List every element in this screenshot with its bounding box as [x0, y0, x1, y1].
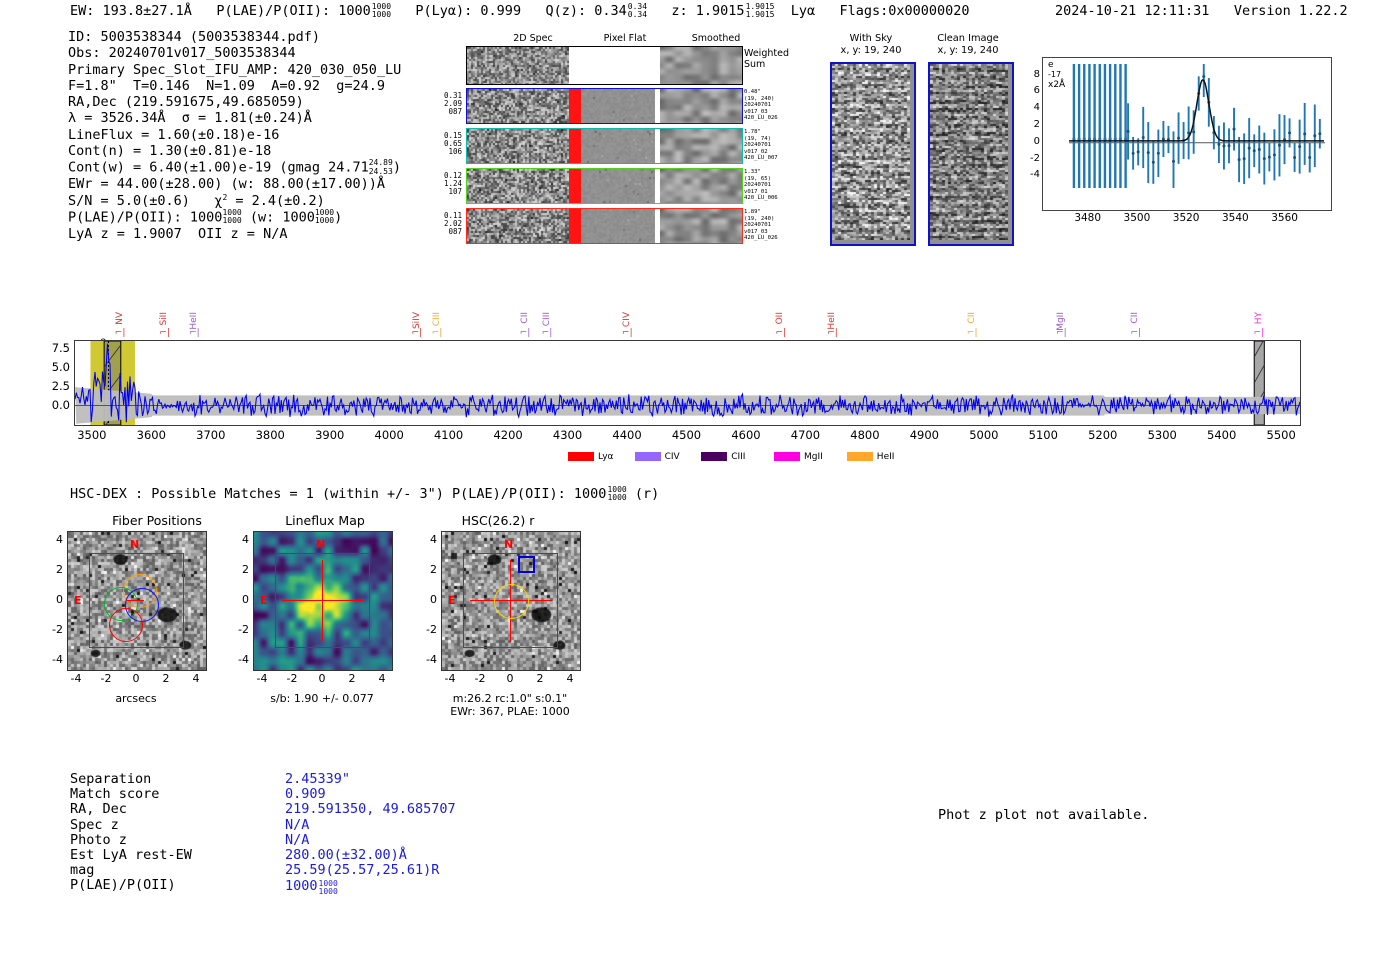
fiber-pixel-flat — [581, 209, 655, 243]
emission-line-label: HY — [1254, 312, 1264, 324]
fiber-smoothed — [660, 209, 743, 243]
emission-line-marker: ⌐| — [520, 328, 531, 338]
spectrum-svg — [75, 341, 1300, 425]
info-primary-spec: Primary Spec_Slot_IFU_AMP: 420_030_050_L… — [68, 62, 401, 78]
hsc-xtick: -2 — [94, 672, 118, 685]
fiber-strip-row — [466, 88, 743, 124]
header-line-name: Lyα — [791, 3, 815, 19]
hsc-ytick: 4 — [233, 533, 249, 546]
spectrum-xtick: 4400 — [602, 428, 652, 442]
fiber-meta-labels: 1.78"(19, 74)20240701v017_02420_LU_007 — [744, 129, 804, 162]
spectrum-xtick: 4100 — [424, 428, 474, 442]
emission-line-marker: ⌐| — [1130, 328, 1141, 338]
fiber-2dspec — [467, 129, 569, 163]
fiber-strip-rows: 0.312.090870.48"(19, 240)20240701v017_03… — [428, 88, 828, 248]
hsc-xtick: -4 — [64, 672, 88, 685]
info-cont-w: Cont(w) = 6.40(±1.00)e-19 (gmag 24.7124.… — [68, 159, 401, 176]
table-row-key: Est LyA rest-EW — [70, 848, 192, 863]
table-row-value: 25.59(25.57,25.61)R — [285, 863, 439, 878]
fiber-aperture-circle — [109, 608, 143, 642]
fiber-left-stats: 0.150.65106 — [428, 132, 462, 157]
header-z-range: 1.90151.9015 — [746, 3, 775, 19]
hsc-caption-line2: EWr: 367, PLAE: 1000 — [430, 705, 590, 718]
fiber-smoothed — [660, 89, 743, 123]
linefit-xtick: 3560 — [1261, 212, 1309, 224]
compass-north: N — [316, 538, 325, 551]
info-cont-n: Cont(n) = 1.30(±0.81)e-18 — [68, 143, 401, 159]
fiber-smoothed — [660, 129, 743, 163]
catalog-match-box — [518, 556, 535, 573]
emission-line-marker: ⌐| — [432, 328, 443, 338]
hsc-xtick: 4 — [184, 672, 208, 685]
emission-line-marker: ⌐| — [1254, 328, 1265, 338]
info-snr-chi2: S/N = 5.0(±0.6) χ2 = 2.4(±0.2) — [68, 193, 401, 209]
hsc-xtick: 4 — [558, 672, 582, 685]
hsc-ytick: 2 — [47, 563, 63, 576]
spectrum-xtick: 4500 — [662, 428, 712, 442]
hsc-xtick: -4 — [438, 672, 462, 685]
spectrum-ytick: 7.5 — [38, 341, 70, 355]
header-plya: P(Lyα): 0.999 — [415, 3, 521, 19]
table-row-value: 100010001000 — [285, 878, 338, 894]
table-row-key: Photo z — [70, 833, 127, 848]
info-radec: RA,Dec (219.591675,49.685059) — [68, 94, 401, 110]
header-plae-range: 10001000 — [372, 3, 391, 19]
spectrum-xtick: 5000 — [959, 428, 1009, 442]
legend-swatch — [568, 452, 594, 461]
table-row-key: P(LAE)/P(OII) — [70, 878, 176, 893]
lineflux-map-title: Lineflux Map — [225, 513, 425, 528]
pixel-flat-red-marker — [569, 129, 581, 163]
hsc-xtick: 4 — [370, 672, 394, 685]
spectrum-xtick: 4800 — [840, 428, 890, 442]
gmag-range: 24.8924.53 — [369, 159, 393, 176]
hsc-ytick: 0 — [233, 593, 249, 606]
header-flags: Flags:0x00000020 — [840, 3, 970, 19]
hsc-ytick: 2 — [421, 563, 437, 576]
hscdex-plae-range: 10001000 — [607, 486, 626, 502]
legend-swatch — [847, 452, 873, 461]
fiber-strip-row — [466, 128, 743, 164]
hsc-ytick: -4 — [47, 653, 63, 666]
plae-w-range: 10001000 — [315, 209, 334, 226]
compass-east: E — [260, 594, 268, 607]
spectrum-xtick: 3500 — [67, 428, 117, 442]
compass-east: E — [74, 594, 82, 607]
header-qz-label: Q(z): 0.34 — [545, 3, 626, 19]
legend-label: HeII — [877, 452, 895, 462]
compass-north: N — [504, 538, 513, 551]
linefit-ytick: -2 — [1018, 153, 1040, 164]
hsc-ytick: 4 — [421, 533, 437, 546]
spectrum-xtick: 4900 — [899, 428, 949, 442]
panel-title-2dspec: 2D Spec — [488, 33, 578, 44]
fiber-pixel-flat — [581, 89, 655, 123]
linefit-ytick: 4 — [1018, 102, 1040, 113]
linefit-ytick: 2 — [1018, 119, 1040, 130]
fiber-meta-labels: 1.89"(19, 240)20240701v017_03420_LU_026 — [744, 209, 804, 242]
linefit-xtick: 3540 — [1211, 212, 1259, 224]
spectrum-xtick: 4000 — [364, 428, 414, 442]
lineflux-map-caption: s/b: 1.90 +/- 0.077 — [242, 692, 402, 705]
plae-range: 10001000 — [222, 209, 241, 226]
hsc-ytick: -4 — [233, 653, 249, 666]
emission-line-label: SiIV — [412, 312, 422, 329]
fiber-positions-caption: arcsecs — [56, 692, 216, 705]
hsc-r-band-image: NE — [441, 531, 581, 671]
fiber-left-stats: 0.112.02087 — [428, 212, 462, 237]
table-row-value: 2.45339" — [285, 772, 350, 787]
spectrum-xtick: 3700 — [186, 428, 236, 442]
legend-label: MgII — [804, 452, 823, 462]
table-row-key: Separation — [70, 772, 151, 787]
hsc-ytick: -2 — [47, 623, 63, 636]
table-row-value: N/A — [285, 818, 309, 833]
hsc-xtick: 0 — [498, 672, 522, 685]
hsc-xtick: 2 — [340, 672, 364, 685]
hsc-ytick: 0 — [47, 593, 63, 606]
table-row-value: N/A — [285, 833, 309, 848]
lineflux-map-image: NE — [253, 531, 393, 671]
hsc-ytick: 0 — [421, 593, 437, 606]
emission-line-marker: ⌐| — [189, 328, 200, 338]
fiber-2dspec — [467, 209, 569, 243]
fiber-meta-labels: 1.33"(19, 65)20240701v017_01420_LU_006 — [744, 169, 804, 202]
emission-line-label: CIII — [542, 312, 552, 326]
fiber-2dspec — [467, 169, 569, 203]
emission-line-marker: ⌐| — [1056, 328, 1067, 338]
hsc-xtick: 2 — [154, 672, 178, 685]
clean-image-title: Clean Image x, y: 19, 240 — [908, 33, 1028, 56]
chi2-exponent: 2 — [222, 194, 227, 202]
spectrum-xtick: 5100 — [1018, 428, 1068, 442]
weighted-sum-strip — [466, 46, 743, 85]
emission-line-label: OII — [775, 312, 785, 324]
fiber-strip-row — [466, 168, 743, 204]
crosshair-vertical — [322, 560, 323, 642]
target-crosshair — [126, 600, 144, 601]
compass-north: N — [130, 538, 139, 551]
hsc-xtick: 0 — [124, 672, 148, 685]
linefit-axes — [1042, 57, 1332, 211]
pixel-flat-red-marker — [569, 209, 581, 243]
emission-line-label: CIV — [622, 312, 632, 327]
info-redshifts: LyA z = 1.9007 OII z = N/A — [68, 226, 401, 242]
fiber-left-stats: 0.121.24107 — [428, 172, 462, 197]
with-sky-image — [830, 62, 916, 246]
fiber-smoothed — [660, 169, 743, 203]
header-ew: EW: 193.8±27.1Å — [70, 3, 192, 19]
emission-line-marker: ⌐| — [159, 328, 170, 338]
emission-line-label: CII — [1130, 312, 1140, 324]
spectrum-xtick: 4200 — [483, 428, 533, 442]
hscdex-header: HSC-DEX : Possible Matches = 1 (within +… — [70, 486, 659, 502]
linefit-xtick: 3500 — [1113, 212, 1161, 224]
emission-line-label: CII — [967, 312, 977, 324]
linefit-ytick: -4 — [1018, 169, 1040, 180]
legend-swatch — [635, 452, 661, 461]
fiber-pixel-flat — [581, 169, 655, 203]
info-ewr: EWr = 44.00(±28.00) (w: 88.00(±17.00))Å — [68, 176, 401, 192]
legend-label: CIII — [731, 452, 745, 462]
emission-line-marker: ⌐| — [412, 328, 423, 338]
header-version: Version 1.22.2 — [1234, 3, 1348, 19]
emission-line-marker: ⌐| — [775, 328, 786, 338]
fiber-left-stats: 0.312.09087 — [428, 92, 462, 117]
linefit-xtick: 3480 — [1064, 212, 1112, 224]
emission-line-label: HeII — [827, 312, 837, 330]
info-obs: Obs: 20240701v017_5003538344 — [68, 45, 401, 61]
fiber-2dspec — [467, 89, 569, 123]
linefit-ytick: 6 — [1018, 85, 1040, 96]
pixel-flat-red-marker — [569, 89, 581, 123]
hsc-xtick: 0 — [310, 672, 334, 685]
spectrum-ytick: 5.0 — [38, 360, 70, 374]
info-lambda: λ = 3526.34Å σ = 1.81(±0.24)Å — [68, 110, 401, 126]
header-summary-line: EW: 193.8±27.1Å P(LAE)/P(OII): 100010001… — [70, 3, 970, 19]
pixel-flat-red-marker — [569, 169, 581, 203]
table-row-key: Spec z — [70, 818, 119, 833]
legend-label: CIV — [665, 452, 680, 462]
photz-not-available-note: Phot z plot not available. — [938, 807, 1149, 823]
linefit-ytick: 8 — [1018, 69, 1040, 80]
emission-line-marker: ⌐| — [827, 328, 838, 338]
clean-image — [928, 62, 1014, 246]
panel-title-smoothed: Smoothed — [671, 33, 761, 44]
header-z-label: z: 1.9015 — [671, 3, 744, 19]
hsc-ytick: -2 — [421, 623, 437, 636]
linefit-ytick: 0 — [1018, 136, 1040, 147]
spectrum-axes — [74, 340, 1301, 426]
table-row-key: RA, Dec — [70, 802, 127, 817]
spectrum-xtick: 4700 — [780, 428, 830, 442]
spectrum-xtick: 4600 — [721, 428, 771, 442]
weighted-sum-label: Weighted Sum — [744, 49, 789, 70]
spectrum-xtick: 3600 — [126, 428, 176, 442]
hsc-xtick: 2 — [528, 672, 552, 685]
compass-east: E — [448, 594, 456, 607]
panel-title-pixelflat: Pixel Flat — [580, 33, 670, 44]
hsc-ytick: -4 — [421, 653, 437, 666]
emission-line-marker: ⌐| — [622, 328, 633, 338]
hsc-image-title: HSC(26.2) r — [398, 513, 598, 528]
info-seeing: F=1.8" T=0.146 N=1.09 A=0.92 g=24.9 — [68, 78, 401, 94]
emission-line-label: CIII — [432, 312, 442, 326]
hsc-xtick: -2 — [468, 672, 492, 685]
emission-line-label: HeII — [189, 312, 199, 330]
spectrum-xtick: 5200 — [1078, 428, 1128, 442]
emission-line-label: NV — [115, 312, 125, 325]
table-row-value: 219.591350, 49.685707 — [285, 802, 456, 817]
hsc-xtick: -2 — [280, 672, 304, 685]
linefit-svg — [1043, 58, 1331, 210]
spectrum-xtick: 5400 — [1197, 428, 1247, 442]
legend-label: Lyα — [598, 452, 613, 462]
fiber-positions-image: NE — [67, 531, 207, 671]
fiber-strip-row — [466, 208, 743, 244]
table-row-value: 280.00(±32.00)Å — [285, 848, 407, 863]
aperture-circle — [494, 584, 529, 619]
hsc-caption-line1: m:26.2 rc:1.0" s:0.1" — [430, 692, 590, 705]
table-row-key: Match score — [70, 787, 159, 802]
spectrum-xtick: 5500 — [1256, 428, 1306, 442]
detection-info-block: ID: 5003538344 (5003538344.pdf) Obs: 202… — [68, 29, 401, 242]
emission-line-label: SiII — [159, 312, 169, 326]
linefit-xtick: 3520 — [1162, 212, 1210, 224]
legend-swatch — [701, 452, 727, 461]
emission-line-marker: ⌐| — [967, 328, 978, 338]
spectrum-xtick: 5300 — [1137, 428, 1187, 442]
hsc-ytick: 4 — [47, 533, 63, 546]
spectrum-xtick: 4300 — [543, 428, 593, 442]
emission-line-label: CII — [520, 312, 530, 324]
info-plae: P(LAE)/P(OII): 100010001000 (w: 10001000… — [68, 209, 401, 226]
header-plae-label: P(LAE)/P(OII): 1000 — [216, 3, 370, 19]
header-timestamp-block: 2024-10-21 12:11:31 Version 1.22.2 — [1055, 3, 1348, 19]
header-qz-range: 0.340.34 — [628, 3, 647, 19]
fiber-meta-labels: 0.48"(19, 240)20240701v017_03420_LU_026 — [744, 89, 804, 122]
table-row-value: 0.909 — [285, 787, 326, 802]
linefit-unit-label: e-17x2Å — [1048, 60, 1065, 90]
emission-line-marker: ⌐| — [542, 328, 553, 338]
table-row-key: mag — [70, 863, 94, 878]
hsc-ytick: -2 — [233, 623, 249, 636]
hsc-xtick: -4 — [250, 672, 274, 685]
header-timestamp: 2024-10-21 12:11:31 — [1055, 3, 1209, 19]
spectrum-ytick: 0.0 — [38, 398, 70, 412]
spectrum-ytick: 2.5 — [38, 379, 70, 393]
info-lineflux: LineFlux = 1.60(±0.18)e-16 — [68, 127, 401, 143]
spectrum-xtick: 3900 — [305, 428, 355, 442]
fiber-pixel-flat — [581, 129, 655, 163]
hsc-ytick: 2 — [233, 563, 249, 576]
spectrum-xtick: 3800 — [245, 428, 295, 442]
info-id: ID: 5003538344 (5003538344.pdf) — [68, 29, 401, 45]
legend-swatch — [774, 452, 800, 461]
